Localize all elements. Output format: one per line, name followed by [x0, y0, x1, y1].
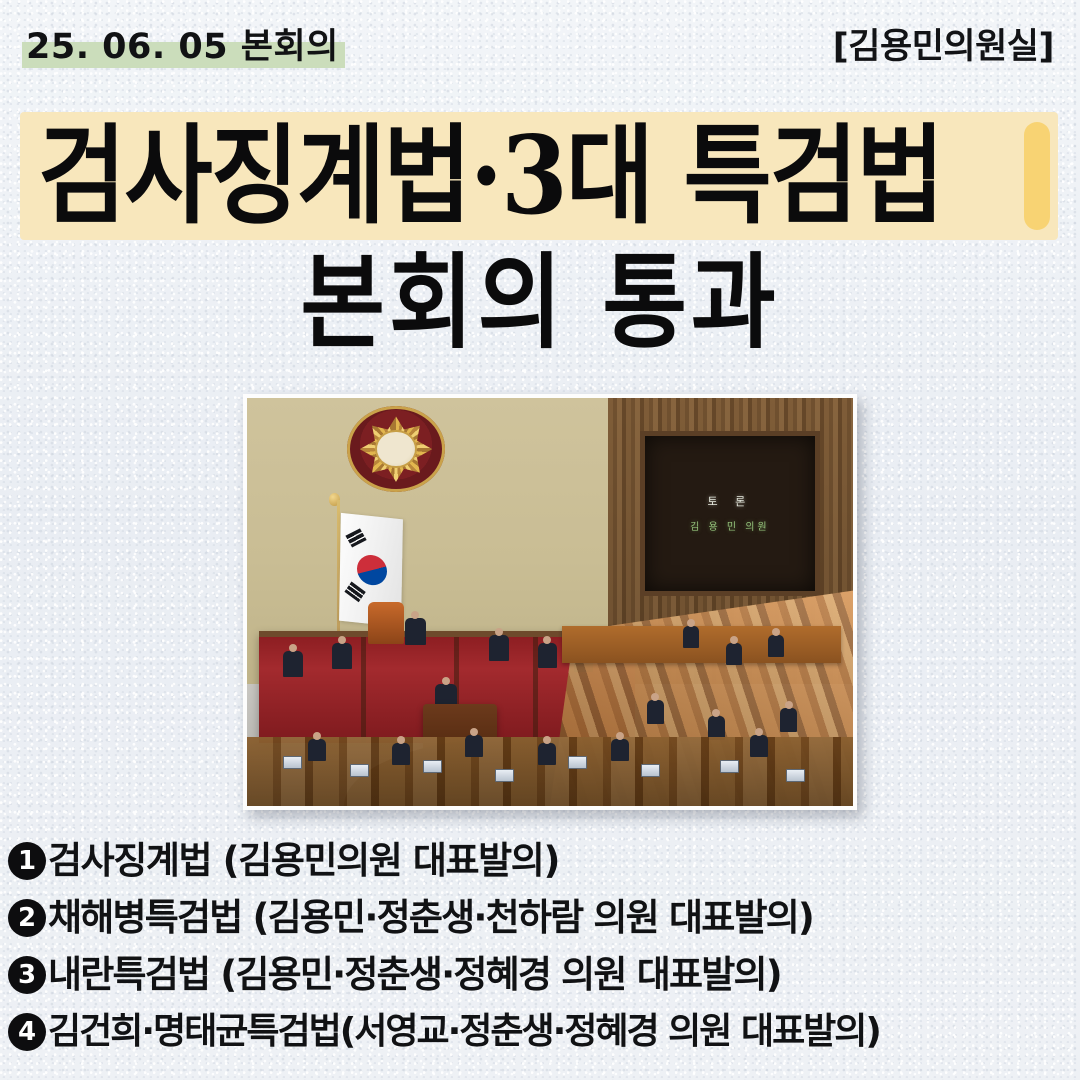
bullet-number-icon: 3: [8, 956, 46, 994]
trigram-icon: [345, 529, 366, 548]
screen-topic-text: 토 론: [707, 493, 752, 509]
desk-laptop-icon: [720, 760, 739, 773]
seated-member: [683, 626, 699, 648]
seated-member: [780, 708, 797, 732]
bill-suffix: ·정춘생·정혜경 의원 대표발의): [332, 953, 781, 996]
bill-prefix: 내란특검법 (: [48, 953, 235, 996]
office-label: [김용민의원실]: [833, 18, 1054, 69]
list-item: 2 채해병특검법 (김용민·정춘생·천하람 의원 대표발의): [8, 889, 1074, 946]
taeguk-icon: [357, 554, 388, 587]
assembly-photo: 토 론 김 용 민 의원: [243, 394, 857, 810]
desk-laptop-icon: [350, 764, 369, 777]
seated-member: [308, 739, 326, 761]
title-line-1: 검사징계법·3대 특검법: [38, 122, 943, 230]
bill-sponsor-bold: 김용민: [238, 839, 336, 882]
bill-sponsor-bold: 김용민: [235, 953, 332, 996]
seated-member: [465, 735, 483, 757]
seated-official: [489, 635, 509, 661]
list-item: 3 내란특검법 (김용민·정춘생·정혜경 의원 대표발의): [8, 946, 1074, 1003]
seated-member: [750, 735, 768, 757]
desk-laptop-icon: [786, 769, 805, 782]
speaker-chair: [368, 602, 404, 644]
bench-seam: [361, 637, 366, 743]
seated-member: [768, 635, 784, 657]
bill-suffix: 의원 대표발의): [336, 839, 559, 882]
assembly-speaker: [405, 618, 426, 645]
bill-list: 1 검사징계법 (김용민의원 대표발의) 2 채해병특검법 (김용민·정춘생·천…: [8, 832, 1074, 1060]
title-line-2: 본회의 통과: [0, 248, 1080, 356]
bill-prefix: 김건희·명태균특검법(서영교·정춘생·정혜경 의원 대표발의): [48, 1011, 880, 1052]
bill-text: 채해병특검법 (김용민·정춘생·천하람 의원 대표발의): [48, 899, 813, 936]
chamber-display-screen: 토 론 김 용 민 의원: [640, 431, 820, 596]
seated-official: [538, 643, 557, 668]
screen-speaker-text: 김 용 민 의원: [690, 518, 770, 533]
seated-member: [538, 743, 556, 765]
seated-official: [283, 651, 303, 677]
desk-laptop-icon: [641, 764, 660, 777]
bill-suffix: ·정춘생·천하람 의원 대표발의): [364, 896, 813, 939]
emblem-glyph-icon: [384, 441, 408, 458]
list-item: 1 검사징계법 (김용민의원 대표발의): [8, 832, 1074, 889]
desk-laptop-icon: [283, 756, 302, 769]
list-item: 4 김건희·명태균특검법(서영교·정춘생·정혜경 의원 대표발의): [8, 1003, 1074, 1060]
seated-member: [647, 700, 664, 724]
seated-official: [332, 643, 352, 669]
seated-member: [726, 643, 742, 665]
bill-text: 내란특검법 (김용민·정춘생·정혜경 의원 대표발의): [48, 956, 781, 993]
desk-laptop-icon: [495, 769, 514, 782]
bill-text: 검사징계법 (김용민의원 대표발의): [48, 842, 559, 879]
date-label: 25. 06. 05 본회의: [26, 27, 339, 67]
gallery-desk-row: [562, 626, 841, 663]
bill-text: 김건희·명태균특검법(서영교·정춘생·정혜경 의원 대표발의): [48, 1014, 880, 1050]
assembly-photo-content: 토 론 김 용 민 의원: [247, 398, 853, 806]
title-block: 검사징계법·3대 특검법 본회의 통과: [0, 112, 1080, 351]
date-badge: 25. 06. 05 본회의: [26, 18, 339, 69]
bullet-number-icon: 1: [8, 842, 46, 880]
bill-prefix: 채해병특검법 (: [48, 896, 268, 939]
desk-laptop-icon: [568, 756, 587, 769]
bill-prefix: 검사징계법 (: [48, 839, 238, 882]
bullet-number-icon: 4: [8, 1013, 46, 1051]
bullet-number-icon: 2: [8, 899, 46, 937]
header-bar: 25. 06. 05 본회의 [김용민의원실]: [0, 8, 1080, 78]
accent-bar: [1024, 122, 1050, 230]
national-assembly-emblem-icon: [347, 406, 445, 492]
trigram-icon: [345, 582, 366, 603]
desk-laptop-icon: [423, 760, 442, 773]
title-highlight-band: 검사징계법·3대 특검법: [20, 112, 1058, 240]
seated-member: [392, 743, 410, 765]
seated-member: [611, 739, 629, 761]
bill-sponsor-bold: 김용민: [268, 896, 365, 939]
